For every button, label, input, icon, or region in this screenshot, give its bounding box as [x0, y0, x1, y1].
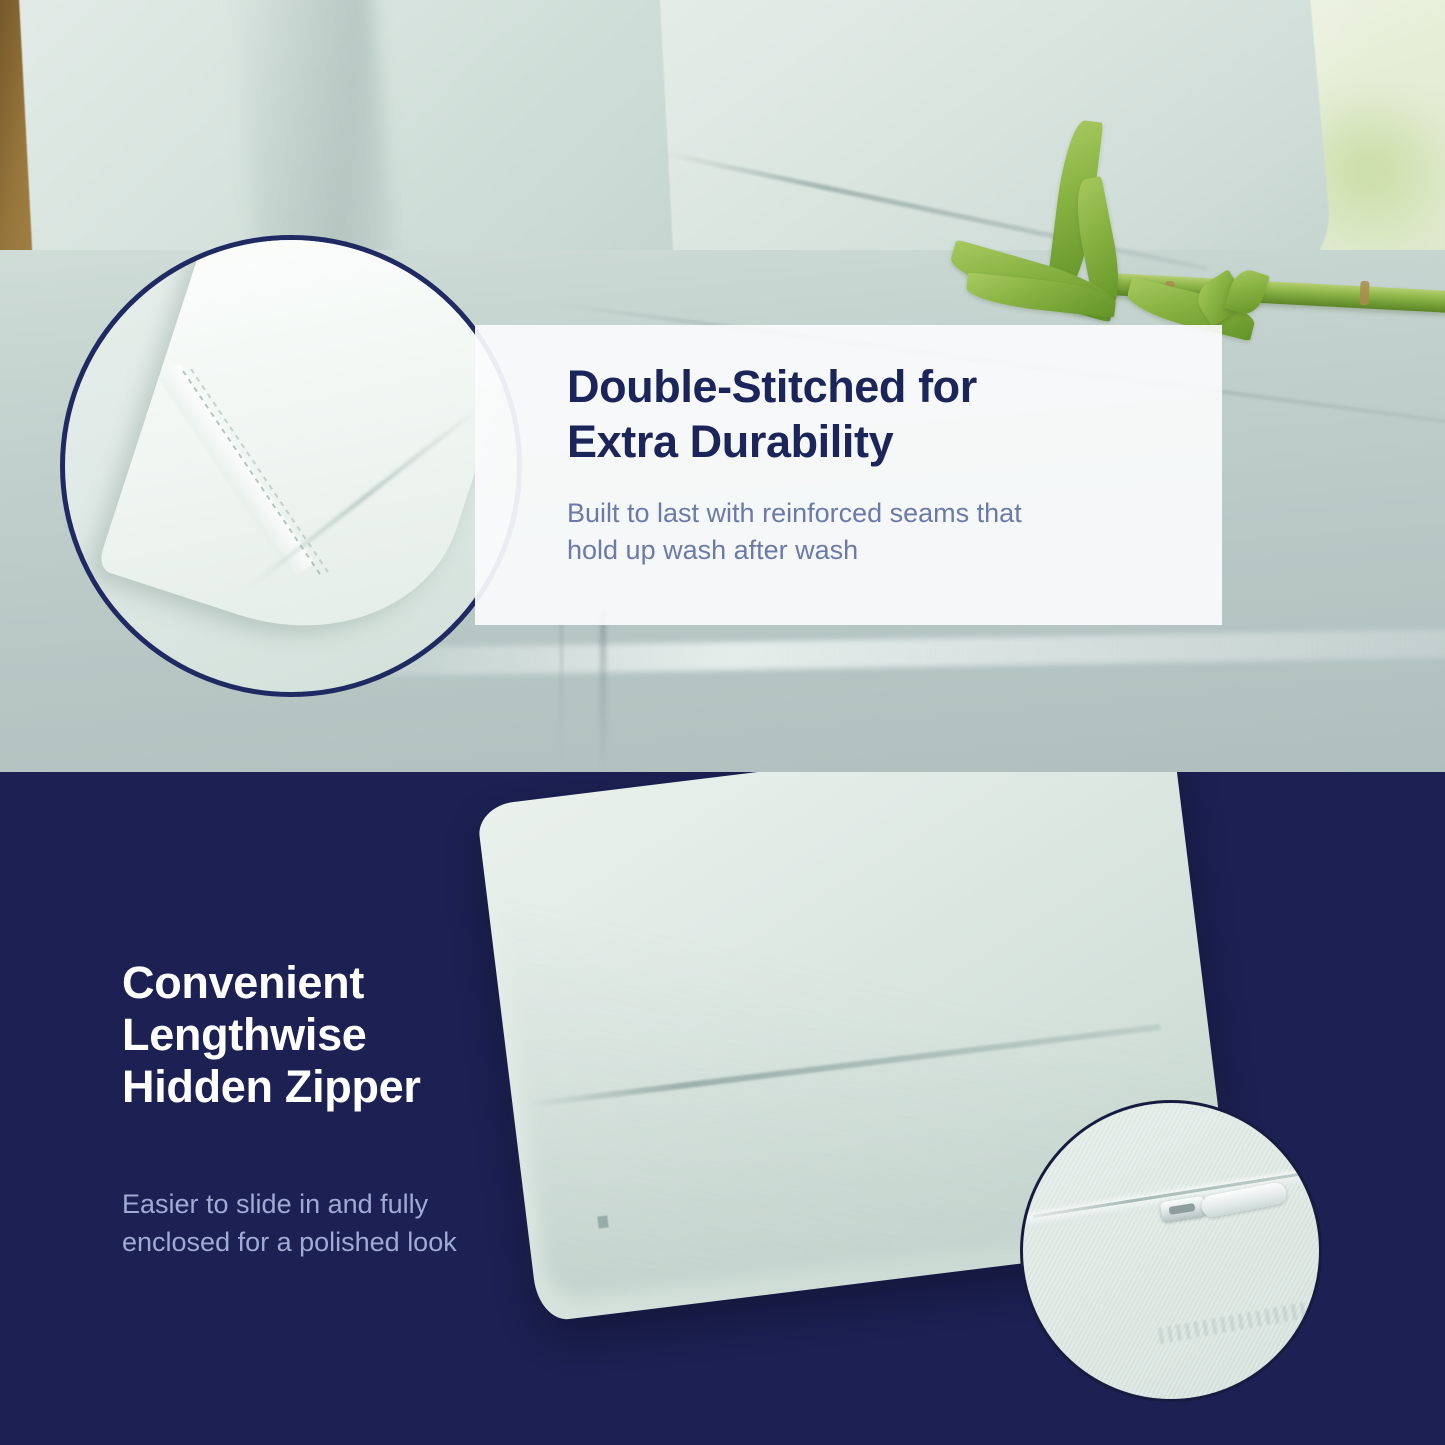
- callout-circle-zipper: [1020, 1100, 1322, 1402]
- pillow-tag: [597, 1215, 608, 1228]
- bottom-headline-line1: Convenient: [122, 957, 364, 1008]
- top-text-card: Double-Stitched for Extra Durability Bui…: [475, 325, 1222, 625]
- fabric-texture: [1023, 1103, 1319, 1399]
- bottom-subtext-line1: Easier to slide in and fully: [122, 1189, 428, 1219]
- infographic-canvas: Double-Stitched for Extra Durability Bui…: [0, 0, 1445, 1445]
- top-subtext-line2: hold up wash after wash: [567, 535, 858, 565]
- bottom-headline: Convenient Lengthwise Hidden Zipper: [122, 957, 552, 1113]
- pillowcase-corner: [97, 235, 522, 670]
- bottom-subtext: Easier to slide in and fully enclosed fo…: [122, 1185, 552, 1261]
- top-panel-lifestyle-photo: Double-Stitched for Extra Durability Bui…: [0, 0, 1445, 772]
- bamboo-node: [1359, 281, 1369, 305]
- top-headline-line2: Extra Durability: [567, 416, 893, 467]
- bottom-text-block: Convenient Lengthwise Hidden Zipper Easi…: [122, 957, 552, 1261]
- top-headline: Double-Stitched for Extra Durability: [567, 359, 1207, 469]
- top-subtext: Built to last with reinforced seams that…: [567, 495, 1207, 569]
- top-subtext-line1: Built to last with reinforced seams that: [567, 498, 1022, 528]
- bottom-subtext-line2: enclosed for a polished look: [122, 1227, 457, 1257]
- bottom-headline-line3: Hidden Zipper: [122, 1061, 421, 1112]
- sheet-fold: [600, 610, 606, 772]
- callout-circle-stitching: [60, 235, 522, 697]
- top-headline-line1: Double-Stitched for: [567, 361, 977, 412]
- sheet-fold: [560, 620, 563, 770]
- bottom-headline-line2: Lengthwise: [122, 1009, 367, 1060]
